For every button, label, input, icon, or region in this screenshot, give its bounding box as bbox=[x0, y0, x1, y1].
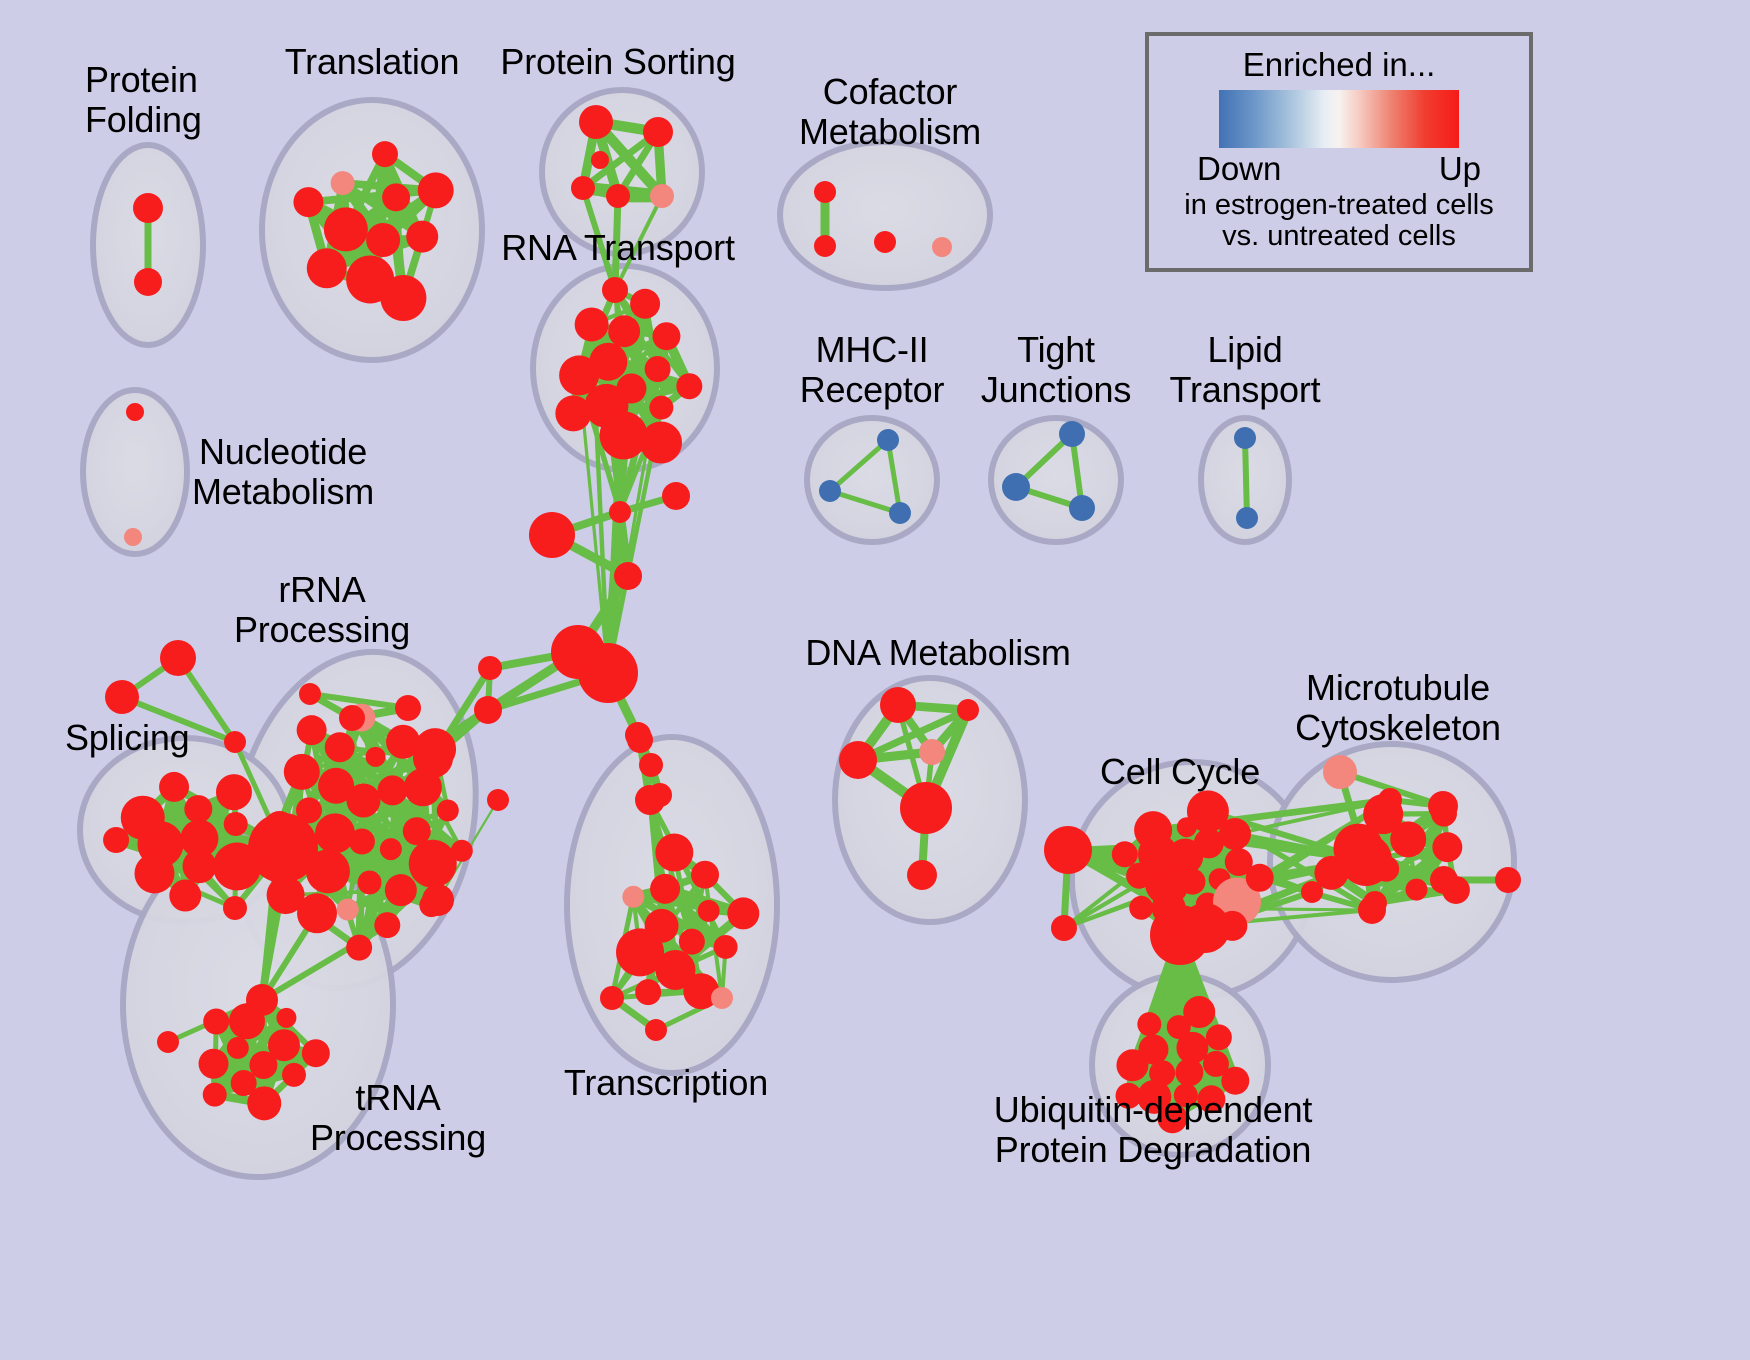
network-node[interactable] bbox=[571, 176, 595, 200]
network-node[interactable] bbox=[555, 395, 591, 431]
network-node[interactable] bbox=[1044, 826, 1092, 874]
network-node[interactable] bbox=[395, 695, 421, 721]
network-node[interactable] bbox=[630, 289, 660, 319]
network-node[interactable] bbox=[474, 696, 502, 724]
network-node[interactable] bbox=[1129, 896, 1153, 920]
network-node[interactable] bbox=[1236, 507, 1258, 529]
network-node[interactable] bbox=[1358, 896, 1386, 924]
network-node[interactable] bbox=[1180, 903, 1230, 953]
network-node[interactable] bbox=[124, 528, 142, 546]
network-node[interactable] bbox=[224, 731, 246, 753]
network-node[interactable] bbox=[377, 775, 407, 805]
network-node[interactable] bbox=[1428, 791, 1458, 821]
network-node[interactable] bbox=[385, 874, 417, 906]
network-node[interactable] bbox=[1187, 790, 1229, 832]
network-node[interactable] bbox=[103, 827, 129, 853]
network-node[interactable] bbox=[662, 482, 690, 510]
network-node[interactable] bbox=[227, 1037, 249, 1059]
network-node[interactable] bbox=[900, 782, 952, 834]
cluster-label-cofactor-metabolism: Cofactor Metabolism bbox=[799, 72, 981, 153]
network-node[interactable] bbox=[608, 315, 640, 347]
network-node[interactable] bbox=[652, 322, 680, 350]
network-node[interactable] bbox=[1069, 495, 1095, 521]
network-node[interactable] bbox=[649, 396, 673, 420]
network-node[interactable] bbox=[1323, 755, 1357, 789]
network-node[interactable] bbox=[1112, 841, 1138, 867]
network-node[interactable] bbox=[302, 1039, 330, 1067]
legend-box: Enriched in... Down Up in estrogen-treat… bbox=[1145, 32, 1533, 272]
network-node[interactable] bbox=[880, 687, 916, 723]
network-node[interactable] bbox=[159, 772, 189, 802]
network-node[interactable] bbox=[650, 874, 680, 904]
network-node[interactable] bbox=[575, 307, 609, 341]
legend-low-label: Down bbox=[1197, 150, 1281, 188]
network-node[interactable] bbox=[1206, 1024, 1232, 1050]
network-node[interactable] bbox=[337, 899, 359, 921]
network-node[interactable] bbox=[591, 151, 609, 169]
network-node[interactable] bbox=[478, 656, 502, 680]
network-node[interactable] bbox=[1301, 881, 1323, 903]
network-node[interactable] bbox=[297, 715, 327, 745]
network-node[interactable] bbox=[1340, 834, 1392, 886]
network-node[interactable] bbox=[698, 900, 720, 922]
network-node[interactable] bbox=[157, 1031, 179, 1053]
legend-caption-line-2: vs. untreated cells bbox=[1222, 220, 1456, 253]
network-node[interactable] bbox=[919, 739, 945, 765]
legend-high-label: Up bbox=[1439, 150, 1481, 188]
network-node[interactable] bbox=[315, 813, 355, 853]
network-node[interactable] bbox=[1134, 811, 1172, 849]
network-node[interactable] bbox=[418, 172, 454, 208]
network-node[interactable] bbox=[203, 1009, 229, 1035]
network-node[interactable] bbox=[1137, 1012, 1161, 1036]
network-node[interactable] bbox=[487, 789, 509, 811]
network-node[interactable] bbox=[380, 275, 426, 321]
network-node[interactable] bbox=[814, 181, 836, 203]
network-node[interactable] bbox=[602, 277, 628, 303]
network-node[interactable] bbox=[1495, 867, 1521, 893]
network-node[interactable] bbox=[134, 268, 162, 296]
network-node[interactable] bbox=[907, 860, 937, 890]
legend-caption-line-1: in estrogen-treated cells bbox=[1184, 189, 1494, 222]
network-node[interactable] bbox=[224, 812, 248, 836]
cluster-label-rna-transport: RNA Transport bbox=[501, 228, 735, 268]
cluster-label-splicing: Splicing bbox=[65, 718, 189, 758]
cluster-label-trna-processing: tRNA Processing bbox=[310, 1078, 486, 1159]
network-node[interactable] bbox=[635, 785, 665, 815]
network-node[interactable] bbox=[639, 753, 663, 777]
network-node[interactable] bbox=[1126, 863, 1152, 889]
network-node[interactable] bbox=[183, 849, 217, 883]
network-node[interactable] bbox=[676, 373, 702, 399]
network-node[interactable] bbox=[126, 403, 144, 421]
cluster-label-rrna-processing: rRNA Processing bbox=[234, 570, 410, 651]
network-node[interactable] bbox=[409, 840, 457, 888]
network-node[interactable] bbox=[299, 683, 321, 705]
network-node[interactable] bbox=[635, 979, 661, 1005]
network-node[interactable] bbox=[819, 480, 841, 502]
network-node[interactable] bbox=[203, 1083, 227, 1107]
network-node[interactable] bbox=[839, 741, 877, 779]
network-node[interactable] bbox=[372, 141, 398, 167]
network-node[interactable] bbox=[889, 502, 911, 524]
network-node[interactable] bbox=[714, 935, 738, 959]
network-node[interactable] bbox=[268, 1029, 300, 1061]
network-node[interactable] bbox=[559, 355, 599, 395]
network-node[interactable] bbox=[284, 754, 320, 790]
network-node[interactable] bbox=[579, 105, 613, 139]
network-node[interactable] bbox=[614, 562, 642, 590]
network-node[interactable] bbox=[134, 853, 174, 893]
cluster-ellipse-cofactor-metabolism bbox=[780, 142, 990, 288]
network-node[interactable] bbox=[406, 221, 438, 253]
cluster-label-mhc-ii-receptor: MHC-II Receptor bbox=[800, 330, 944, 411]
network-node[interactable] bbox=[957, 699, 979, 721]
network-node[interactable] bbox=[606, 184, 630, 208]
network-node[interactable] bbox=[1051, 915, 1077, 941]
network-node[interactable] bbox=[1246, 864, 1274, 892]
network-node[interactable] bbox=[422, 884, 454, 916]
network-node[interactable] bbox=[874, 231, 896, 253]
network-node[interactable] bbox=[223, 896, 247, 920]
network-node[interactable] bbox=[650, 184, 674, 208]
network-node[interactable] bbox=[276, 1008, 296, 1028]
network-node[interactable] bbox=[247, 1086, 281, 1120]
network-node[interactable] bbox=[814, 235, 836, 257]
network-node[interactable] bbox=[121, 796, 165, 840]
network-node[interactable] bbox=[1234, 427, 1256, 449]
network-node[interactable] bbox=[679, 929, 705, 955]
cluster-label-cell-cycle: Cell Cycle bbox=[1100, 752, 1260, 792]
network-node[interactable] bbox=[339, 705, 365, 731]
cluster-label-translation: Translation bbox=[285, 42, 460, 82]
network-node[interactable] bbox=[609, 501, 631, 523]
network-node[interactable] bbox=[932, 237, 952, 257]
network-edge bbox=[1245, 438, 1247, 518]
network-node[interactable] bbox=[413, 738, 453, 778]
network-node[interactable] bbox=[600, 986, 624, 1010]
legend-color-gradient-bar bbox=[1219, 90, 1459, 148]
network-node[interactable] bbox=[346, 935, 372, 961]
network-node[interactable] bbox=[382, 183, 410, 211]
network-node[interactable] bbox=[600, 411, 648, 459]
network-node[interactable] bbox=[622, 886, 644, 908]
network-node[interactable] bbox=[645, 1019, 667, 1041]
legend-endpoint-labels: Down Up bbox=[1189, 150, 1489, 188]
cluster-label-transcription: Transcription bbox=[564, 1063, 768, 1103]
network-node[interactable] bbox=[184, 795, 212, 823]
network-node[interactable] bbox=[616, 928, 664, 976]
network-node[interactable] bbox=[366, 223, 400, 257]
network-node[interactable] bbox=[160, 640, 196, 676]
cluster-label-dna-metabolism: DNA Metabolism bbox=[805, 633, 1070, 673]
network-node[interactable] bbox=[324, 207, 368, 251]
network-node[interactable] bbox=[1405, 879, 1427, 901]
network-node[interactable] bbox=[1430, 866, 1458, 894]
network-node[interactable] bbox=[711, 987, 733, 1009]
network-node[interactable] bbox=[169, 880, 201, 912]
network-node[interactable] bbox=[216, 774, 252, 810]
network-node[interactable] bbox=[282, 1063, 306, 1087]
network-node[interactable] bbox=[578, 643, 638, 703]
cluster-label-tight-junctions: Tight Junctions bbox=[981, 330, 1131, 411]
network-node[interactable] bbox=[325, 732, 355, 762]
network-node[interactable] bbox=[529, 512, 575, 558]
network-node[interactable] bbox=[877, 429, 899, 451]
network-node[interactable] bbox=[437, 800, 459, 822]
network-node[interactable] bbox=[645, 356, 671, 382]
network-node[interactable] bbox=[640, 422, 682, 464]
network-node[interactable] bbox=[213, 842, 261, 890]
network-node[interactable] bbox=[1183, 996, 1215, 1028]
network-node[interactable] bbox=[374, 912, 400, 938]
pathway-enrichment-network-figure: Protein FoldingTranslationProtein Sortin… bbox=[0, 0, 1750, 1360]
network-node[interactable] bbox=[293, 187, 323, 217]
cluster-label-microtubule-cytoskeleton: Microtubule Cytoskeleton bbox=[1295, 668, 1501, 749]
network-node[interactable] bbox=[199, 1049, 229, 1079]
network-node[interactable] bbox=[643, 117, 673, 147]
cluster-label-lipid-transport: Lipid Transport bbox=[1170, 330, 1321, 411]
network-node[interactable] bbox=[451, 840, 473, 862]
network-node[interactable] bbox=[1059, 421, 1085, 447]
cluster-label-ubiquitin-degradation: Ubiquitin-dependent Protein Degradation bbox=[994, 1090, 1312, 1171]
cluster-label-nucleotide-metabolism: Nucleotide Metabolism bbox=[192, 432, 374, 513]
network-node[interactable] bbox=[358, 871, 382, 895]
cluster-ellipse-mhc-ii-receptor bbox=[807, 418, 937, 542]
network-node[interactable] bbox=[307, 248, 347, 288]
cluster-label-protein-sorting: Protein Sorting bbox=[500, 42, 735, 82]
network-node[interactable] bbox=[1116, 1049, 1148, 1081]
network-node[interactable] bbox=[727, 897, 759, 929]
network-node[interactable] bbox=[691, 861, 719, 889]
cluster-label-protein-folding: Protein Folding bbox=[85, 60, 202, 141]
network-node[interactable] bbox=[655, 834, 693, 872]
network-node[interactable] bbox=[366, 747, 386, 767]
network-node[interactable] bbox=[1002, 473, 1030, 501]
network-node[interactable] bbox=[331, 171, 355, 195]
network-node[interactable] bbox=[133, 193, 163, 223]
network-node[interactable] bbox=[1432, 832, 1462, 862]
network-node[interactable] bbox=[318, 768, 354, 804]
legend-title: Enriched in... bbox=[1243, 46, 1436, 84]
network-node[interactable] bbox=[380, 838, 402, 860]
network-node[interactable] bbox=[105, 680, 139, 714]
network-node[interactable] bbox=[1378, 788, 1402, 812]
network-node[interactable] bbox=[627, 727, 653, 753]
network-node[interactable] bbox=[246, 984, 278, 1016]
